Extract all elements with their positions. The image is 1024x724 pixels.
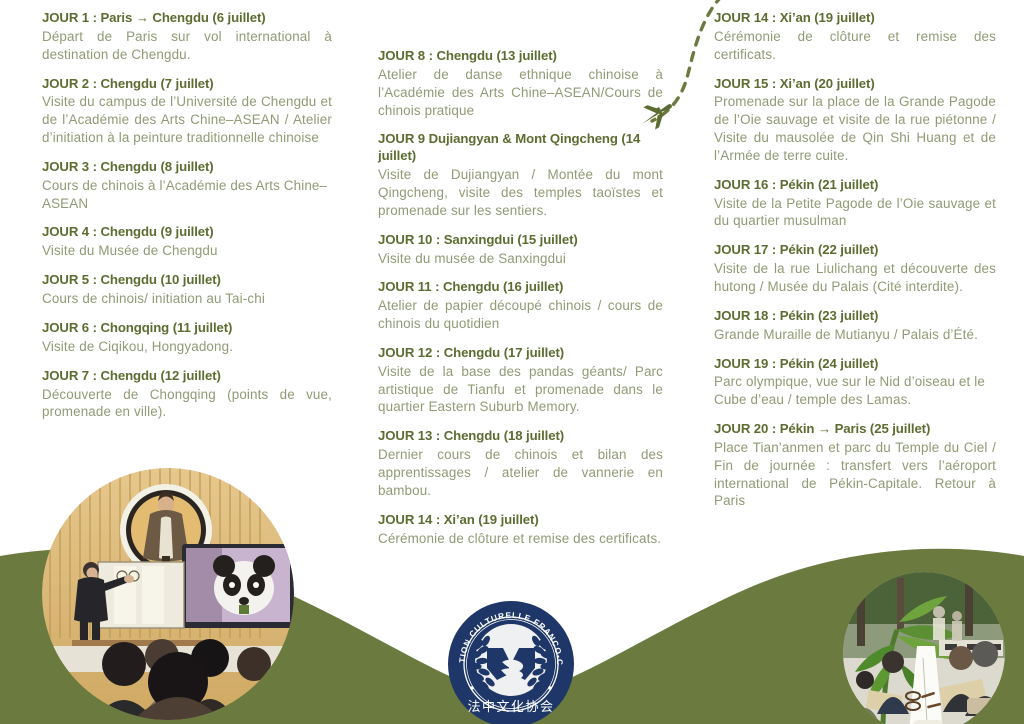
entry-body: Visite de Ciqikou, Hongyadong. [42,338,332,356]
entry-body: Visite de la base des pandas géants/ Par… [378,363,663,416]
entry-body: Cours de chinois à l’Académie des Arts C… [42,177,332,213]
entry-title: JOUR 15 : Xi’an (20 juillet) [714,76,996,93]
entry-title: JOUR 1 : Paris → Chengdu (6 juillet) [42,10,332,27]
itinerary-entry: JOUR 19 : Pékin (24 juillet) Parc olympi… [714,356,996,410]
itinerary-entry: JOUR 8 : Chengdu (13 juillet) Atelier de… [378,48,663,119]
itinerary-entry: JOUR 6 : Chongqing (11 juillet) Visite d… [42,320,332,356]
entry-title: JOUR 10 : Sanxingdui (15 juillet) [378,232,663,249]
itinerary-entry: JOUR 13 : Chengdu (18 juillet) Dernier c… [378,428,663,499]
logo-chinese-text: 法中文化协会 [467,700,554,715]
itinerary-entry: JOUR 1 : Paris → Chengdu (6 juillet) Dép… [42,10,332,64]
itinerary-entry: JOUR 3 : Chengdu (8 juillet) Cours de ch… [42,159,332,213]
association-logo: ASSOCIATION CULTURELLE FRANCO-CHINOISE [447,600,575,724]
entry-body: Cours de chinois/ initiation au Tai-chi [42,290,332,308]
itinerary-column-1: JOUR 1 : Paris → Chengdu (6 juillet) Dép… [42,0,332,421]
entry-body: Visite du Musée de Chengdu [42,242,332,260]
entry-body: Cérémonie de clôture et remise des certi… [378,530,663,548]
entry-body: Atelier de danse ethnique chinoise à l’A… [378,66,663,119]
entry-body: Visite de la rue Liulichang et découvert… [714,260,996,296]
itinerary-entry: JOUR 12 : Chengdu (17 juillet) Visite de… [378,345,663,416]
entry-body: Promenade sur la place de la Grande Pago… [714,93,996,164]
entry-title: JOUR 4 : Chengdu (9 juillet) [42,224,332,241]
itinerary-entry: JOUR 18 : Pékin (23 juillet) Grande Mura… [714,308,996,344]
itinerary-column-3: JOUR 14 : Xi’an (19 juillet) Cérémonie d… [714,0,996,510]
entry-title: JOUR 17 : Pékin (22 juillet) [714,242,996,259]
entry-title: JOUR 14 : Xi’an (19 juillet) [714,10,996,27]
entry-body: Découverte de Chongqing (points de vue, … [42,386,332,422]
entry-title: JOUR 7 : Chengdu (12 juillet) [42,368,332,385]
entry-title: JOUR 9 Dujiangyan & Mont Qingcheng (14 j… [378,131,663,165]
entry-body: Cérémonie de clôture et remise des certi… [714,28,996,64]
itinerary-entry: JOUR 10 : Sanxingdui (15 juillet) Visite… [378,232,663,268]
brochure-page: JOUR 1 : Paris → Chengdu (6 juillet) Dép… [0,0,1024,724]
itinerary-entry: JOUR 16 : Pékin (21 juillet) Visite de l… [714,177,996,231]
entry-title: JOUR 2 : Chengdu (7 juillet) [42,76,332,93]
entry-body: Grande Muraille de Mutianyu / Palais d’É… [714,326,996,344]
itinerary-entry: JOUR 14 : Xi’an (19 juillet) Cérémonie d… [714,10,996,64]
itinerary-entry: JOUR 11 : Chengdu (16 juillet) Atelier d… [378,279,663,333]
entry-body: Visite du musée de Sanxingdui [378,250,663,268]
itinerary-entry: JOUR 9 Dujiangyan & Mont Qingcheng (14 j… [378,131,663,219]
itinerary-entry: JOUR 15 : Xi’an (20 juillet) Promenade s… [714,76,996,165]
entry-body: Dernier cours de chinois et bilan des ap… [378,446,663,499]
entry-title: JOUR 12 : Chengdu (17 juillet) [378,345,663,362]
entry-title: JOUR 14 : Xi’an (19 juillet) [378,512,663,529]
entry-title: JOUR 16 : Pékin (21 juillet) [714,177,996,194]
itinerary-entry: JOUR 20 : Pékin → Paris (25 juillet) Pla… [714,421,996,510]
entry-body: Place Tian’anmen et parc du Temple du Ci… [714,439,996,510]
entry-title: JOUR 18 : Pékin (23 juillet) [714,308,996,325]
entry-title: JOUR 11 : Chengdu (16 juillet) [378,279,663,296]
entry-body: Visite de la Petite Pagode de l’Oie sauv… [714,195,996,231]
entry-body: Départ de Paris sur vol international à … [42,28,332,64]
entry-title: JOUR 3 : Chengdu (8 juillet) [42,159,332,176]
entry-body: Atelier de papier découpé chinois / cour… [378,297,663,333]
entry-body: Parc olympique, vue sur le Nid d’oiseau … [714,373,996,409]
entry-title: JOUR 6 : Chongqing (11 juillet) [42,320,332,337]
entry-title: JOUR 8 : Chengdu (13 juillet) [378,48,663,65]
itinerary-entry: JOUR 17 : Pékin (22 juillet) Visite de l… [714,242,996,296]
entry-body: Visite de Dujiangyan / Montée du mont Qi… [378,166,663,219]
itinerary-entry: JOUR 5 : Chengdu (10 juillet) Cours de c… [42,272,332,308]
itinerary-column-2: JOUR 8 : Chengdu (13 juillet) Atelier de… [378,0,663,547]
entry-body: Visite du campus de l’Université de Chen… [42,93,332,146]
entry-title: JOUR 19 : Pékin (24 juillet) [714,356,996,373]
entry-title: JOUR 5 : Chengdu (10 juillet) [42,272,332,289]
itinerary-entry: JOUR 2 : Chengdu (7 juillet) Visite du c… [42,76,332,147]
itinerary-entry: JOUR 7 : Chengdu (12 juillet) Découverte… [42,368,332,422]
entry-title: JOUR 20 : Pékin → Paris (25 juillet) [714,421,996,438]
itinerary-entry: JOUR 4 : Chengdu (9 juillet) Visite du M… [42,224,332,260]
entry-title: JOUR 13 : Chengdu (18 juillet) [378,428,663,445]
itinerary-entry: JOUR 14 : Xi’an (19 juillet) Cérémonie d… [378,512,663,548]
